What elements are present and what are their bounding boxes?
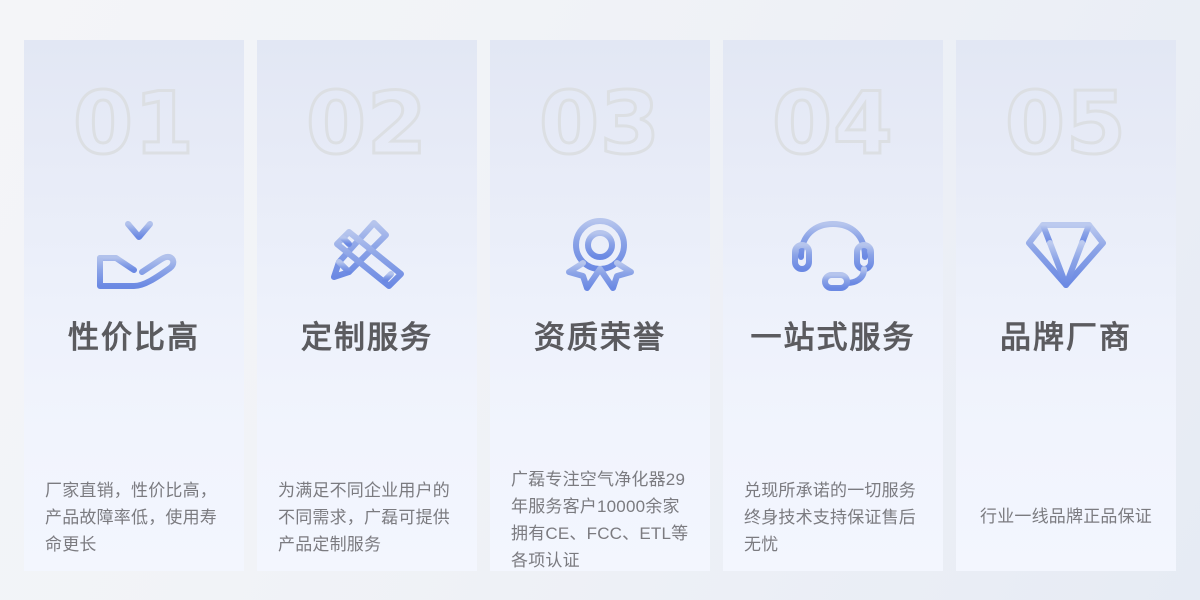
card-number-2: 02 — [306, 78, 428, 170]
diamond-icon — [1011, 216, 1121, 294]
card-number-4: 04 — [772, 78, 894, 170]
card-desc-5: 行业一线品牌正品保证 — [966, 503, 1166, 530]
card-number-3: 03 — [539, 78, 661, 170]
pencil-ruler-icon — [312, 216, 422, 294]
award-ribbon-icon — [545, 216, 655, 294]
card-desc-1: 厂家直销，性价比高，产品故障率低，使用寿命更长 — [45, 477, 223, 558]
card-desc-zone-5: 行业一线品牌正品保证 — [956, 503, 1176, 571]
feature-card-3[interactable]: 03 资质荣誉 广磊专注空气净化器29年 — [490, 40, 710, 571]
hand-holding-yen-icon — [79, 216, 189, 294]
card-desc-4: 兑现所承诺的一切服务终身技术支持保证售后无忧 — [744, 477, 922, 558]
card-title-5: 品牌厂商 — [1000, 318, 1132, 358]
feature-card-4[interactable]: 04 一站式服务 — [723, 40, 943, 571]
feature-card-2[interactable]: 02 定制服务 为 — [257, 40, 477, 571]
card-desc-zone-1: 厂家直销，性价比高，产品故障率低，使用寿命更长 — [24, 477, 244, 571]
card-desc-3: 广磊专注空气净化器29年服务客户10000余家拥有CE、FCC、ETL等各项认证 — [511, 466, 689, 571]
card-desc-2: 为满足不同企业用户的不同需求，广磊可提供产品定制服务 — [278, 477, 456, 558]
card-desc-zone-3: 广磊专注空气净化器29年服务客户10000余家拥有CE、FCC、ETL等各项认证 — [490, 466, 710, 571]
card-title-2: 定制服务 — [301, 318, 433, 358]
card-title-1: 性价比高 — [68, 318, 200, 358]
card-desc-zone-2: 为满足不同企业用户的不同需求，广磊可提供产品定制服务 — [257, 477, 477, 571]
feature-cards-board: 01 — [0, 0, 1200, 600]
card-desc-zone-4: 兑现所承诺的一切服务终身技术支持保证售后无忧 — [723, 477, 943, 571]
feature-card-1[interactable]: 01 — [24, 40, 244, 571]
card-number-1: 01 — [73, 78, 195, 170]
feature-card-5[interactable]: 05 品牌厂商 — [956, 40, 1176, 571]
card-title-3: 资质荣誉 — [534, 318, 666, 358]
card-number-5: 05 — [1005, 78, 1127, 170]
headset-icon — [778, 216, 888, 294]
card-title-4: 一站式服务 — [751, 318, 916, 358]
